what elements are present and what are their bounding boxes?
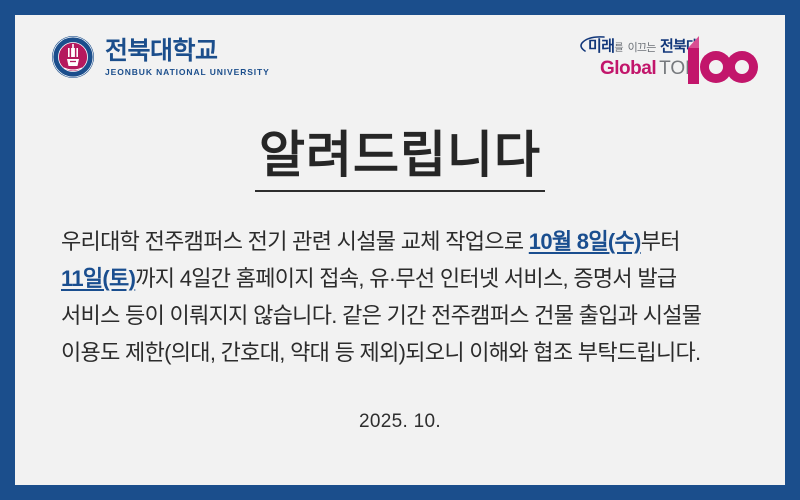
notice-inner-panel: 전북대학교 JEONBUK NATIONAL UNIVERSITY 미래를 이끄… (15, 15, 785, 485)
poster-header: 전북대학교 JEONBUK NATIONAL UNIVERSITY 미래를 이끄… (15, 15, 785, 101)
slogan-global: Global (600, 58, 656, 79)
body-line-2: 11일(토)까지 4일간 홈페이지 접속, 유·무선 인터넷 서비스, 증명서 … (61, 260, 745, 297)
slogan-ikkeuneun: 이끄는 (628, 42, 656, 54)
notice-date: 2025. 10. (15, 411, 785, 433)
slogan-mirae: 미래 (588, 38, 614, 55)
page-title: 알려드립니다 (255, 127, 545, 192)
end-date-highlight: 11일(토) (61, 266, 135, 291)
slogan-logo: 미래를 이끄는 전북대 GlobalTOP (578, 33, 758, 89)
body-line-1-text-b: 부터 (641, 229, 680, 254)
slogan-particle: 를 (614, 43, 623, 54)
body-line-4: 이용도 제한(의대, 간호대, 약대 등 제외)되오니 이해와 협조 부탁드립니… (61, 334, 745, 371)
university-name-en: JEONBUK NATIONAL UNIVERSITY (105, 67, 270, 77)
notice-body: 우리대학 전주캠퍼스 전기 관련 시설물 교체 작업으로 10월 8일(수)부터… (61, 223, 745, 371)
university-name-ko: 전북대학교 (105, 38, 270, 65)
body-line-3: 서비스 등이 이뤄지지 않습니다. 같은 기간 전주캠퍼스 건물 출입과 시설물 (61, 297, 745, 334)
university-wordmark: 전북대학교 JEONBUK NATIONAL UNIVERSITY (105, 37, 270, 77)
start-date-highlight: 10월 8일(수) (529, 229, 641, 254)
body-line-1-text-a: 우리대학 전주캠퍼스 전기 관련 시설물 교체 작업으로 (61, 229, 529, 254)
body-line-1: 우리대학 전주캠퍼스 전기 관련 시설물 교체 작업으로 10월 8일(수)부터 (61, 223, 745, 260)
university-seal-icon (51, 35, 95, 79)
title-block: 알려드립니다 (15, 127, 785, 192)
notice-poster: 전북대학교 JEONBUK NATIONAL UNIVERSITY 미래를 이끄… (0, 0, 800, 500)
university-logo: 전북대학교 JEONBUK NATIONAL UNIVERSITY (51, 35, 270, 79)
body-line-2-text-b: 까지 4일간 홈페이지 접속, 유·무선 인터넷 서비스, 증명서 발급 (135, 266, 676, 291)
slogan-number-100-icon (678, 34, 758, 86)
